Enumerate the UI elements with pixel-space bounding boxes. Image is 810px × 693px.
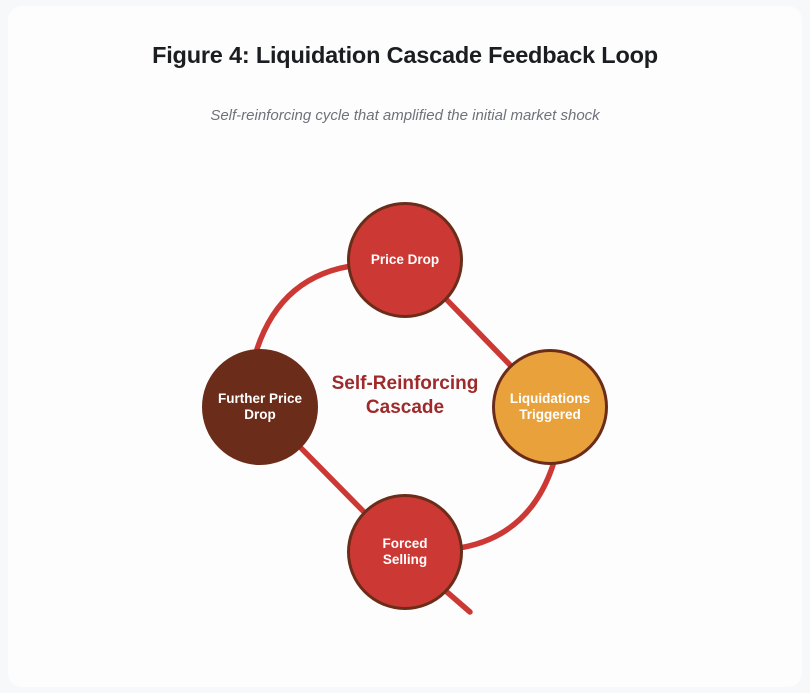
page-title: Figure 4: Liquidation Cascade Feedback L… <box>0 42 810 69</box>
node-label-line: Price Drop <box>371 252 439 268</box>
node-further-price-drop-label: Further Price Drop <box>218 391 302 423</box>
center-label-line-1: Self-Reinforcing <box>295 372 515 396</box>
node-further-price-drop[interactable]: Further Price Drop <box>202 349 318 465</box>
node-label-line: Selling <box>382 552 427 568</box>
edge-forced-selling-to-further-price-drop <box>299 446 364 512</box>
center-label-line-2: Cascade <box>295 396 515 420</box>
node-forced-selling[interactable]: Forced Selling <box>347 494 463 610</box>
edge-price-drop-to-liquidations <box>447 300 512 367</box>
node-label-line: Triggered <box>510 407 590 423</box>
node-forced-selling-label: Forced Selling <box>382 536 427 568</box>
node-price-drop[interactable]: Price Drop <box>347 202 463 318</box>
node-label-line: Drop <box>218 407 302 423</box>
node-liquidations-triggered[interactable]: Liquidations Triggered <box>492 349 608 465</box>
edge-further-price-drop-to-price-drop <box>257 265 358 349</box>
center-label: Self-Reinforcing Cascade <box>295 372 515 420</box>
node-label-line: Further Price <box>218 391 302 407</box>
figure-subtitle: Self-reinforcing cycle that amplified th… <box>0 107 810 124</box>
node-liquidations-triggered-label: Liquidations Triggered <box>510 391 590 423</box>
node-label-line: Liquidations <box>510 391 590 407</box>
node-label-line: Forced <box>382 536 427 552</box>
cycle-diagram: Self-Reinforcing Cascade Price Drop Liqu… <box>0 150 810 650</box>
node-price-drop-label: Price Drop <box>371 252 439 268</box>
edge-liquidations-to-forced-selling <box>452 465 553 549</box>
